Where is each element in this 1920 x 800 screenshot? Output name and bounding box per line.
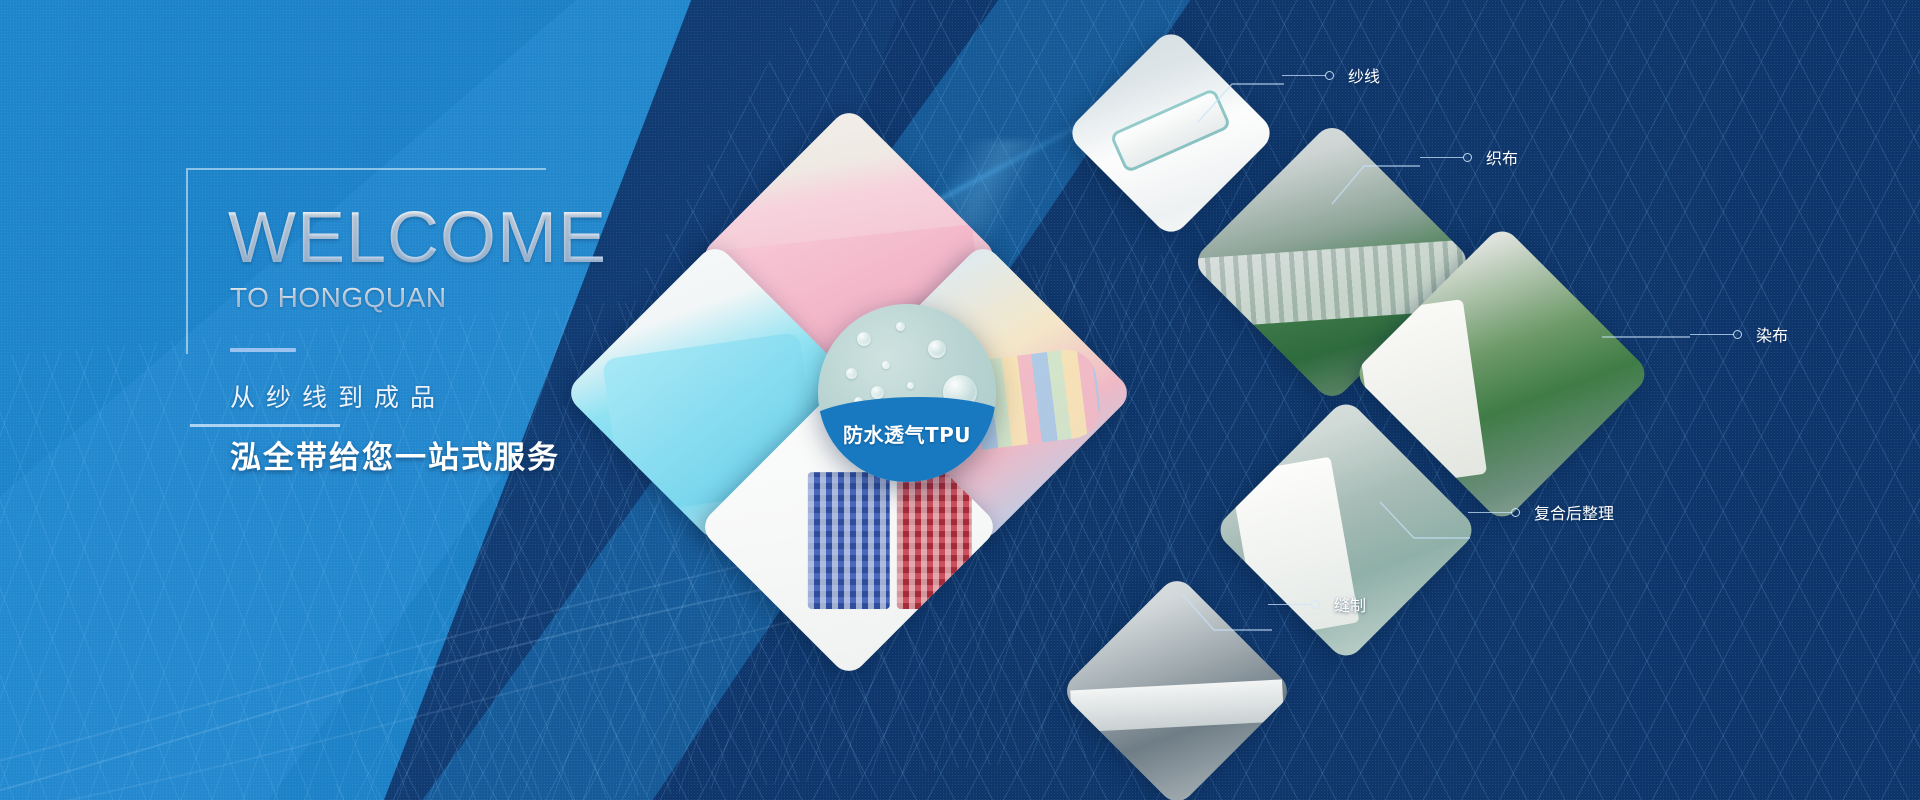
callout-label-yarn: 纱线 xyxy=(1348,63,1380,87)
callout-label-weaving: 织布 xyxy=(1486,145,1518,169)
tagline-primary: 泓全带给您一站式服务 xyxy=(230,432,666,477)
banner-stage: WELCOME TO HONGQUAN 从纱线到成品 泓全带给您一站式服务 xyxy=(0,0,1920,800)
callout-label-sewing: 缝制 xyxy=(1334,592,1366,616)
leader-line-weaving xyxy=(1330,144,1424,206)
tpu-badge-label: 防水透气TPU xyxy=(818,419,996,448)
callout-dot-icon xyxy=(1733,330,1742,339)
callout-connector xyxy=(1268,604,1312,605)
callout-label-dyeing: 染布 xyxy=(1756,322,1788,346)
callout-dot-icon xyxy=(1463,153,1472,162)
callout-label-laminating: 复合后整理 xyxy=(1534,500,1614,524)
callout-sewing[interactable]: 缝制 xyxy=(1268,592,1366,616)
headline-block: WELCOME TO HONGQUAN 从纱线到成品 泓全带给您一站式服务 xyxy=(186,168,666,477)
callout-laminating[interactable]: 复合后整理 xyxy=(1468,500,1614,524)
callout-yarn[interactable]: 纱线 xyxy=(1282,63,1380,87)
callout-dyeing[interactable]: 染布 xyxy=(1690,322,1788,346)
callout-dot-icon xyxy=(1311,600,1320,609)
leader-line-laminating xyxy=(1378,500,1472,556)
callout-dot-icon xyxy=(1325,71,1334,80)
leader-line-sewing xyxy=(1180,592,1274,648)
page-title: WELCOME xyxy=(186,168,666,274)
callout-connector xyxy=(1420,157,1464,158)
decorative-underline xyxy=(190,424,340,427)
callout-connector xyxy=(1468,512,1512,513)
callout-dot-icon xyxy=(1511,508,1520,517)
page-subtitle: TO HONGQUAN xyxy=(186,282,666,314)
callout-connector xyxy=(1282,75,1326,76)
leader-line-dyeing xyxy=(1600,322,1694,342)
tpu-badge[interactable]: 防水透气TPU xyxy=(818,304,996,482)
leader-line-yarn xyxy=(1196,62,1288,124)
callout-connector xyxy=(1690,334,1734,335)
callout-weaving[interactable]: 织布 xyxy=(1420,145,1518,169)
